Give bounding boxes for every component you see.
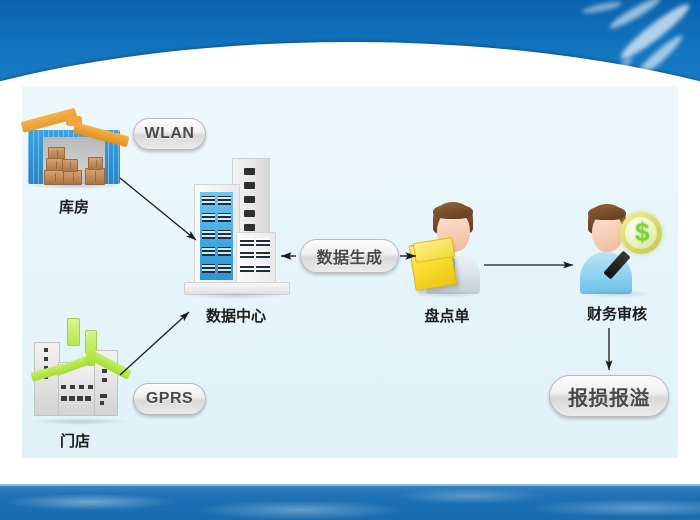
person-with-magnifier-icon: $ bbox=[578, 202, 662, 296]
slide-canvas: 库房 门店 bbox=[0, 0, 700, 520]
pill-gprs[interactable]: GPRS bbox=[133, 383, 206, 415]
cloud-icon bbox=[582, 0, 623, 15]
node-label-store: 门店 bbox=[33, 430, 117, 451]
pill-wlan[interactable]: WLAN bbox=[133, 118, 206, 150]
factory-icon bbox=[28, 318, 132, 426]
node-label-datacenter: 数据中心 bbox=[182, 305, 290, 326]
sky-background-bottom bbox=[0, 484, 700, 520]
node-label-warehouse: 库房 bbox=[32, 196, 116, 217]
dollar-sign-icon: $ bbox=[635, 219, 649, 245]
office-buildings-icon bbox=[180, 158, 292, 303]
person-with-folder-icon bbox=[412, 198, 484, 296]
node-label-finance: 财务审核 bbox=[565, 303, 669, 324]
node-label-sheet: 盘点单 bbox=[395, 305, 499, 326]
pill-loss-overflow-report[interactable]: 报损报溢 bbox=[549, 375, 669, 417]
warehouse-icon bbox=[22, 110, 126, 192]
pill-data-generation[interactable]: 数据生成 bbox=[300, 239, 399, 273]
